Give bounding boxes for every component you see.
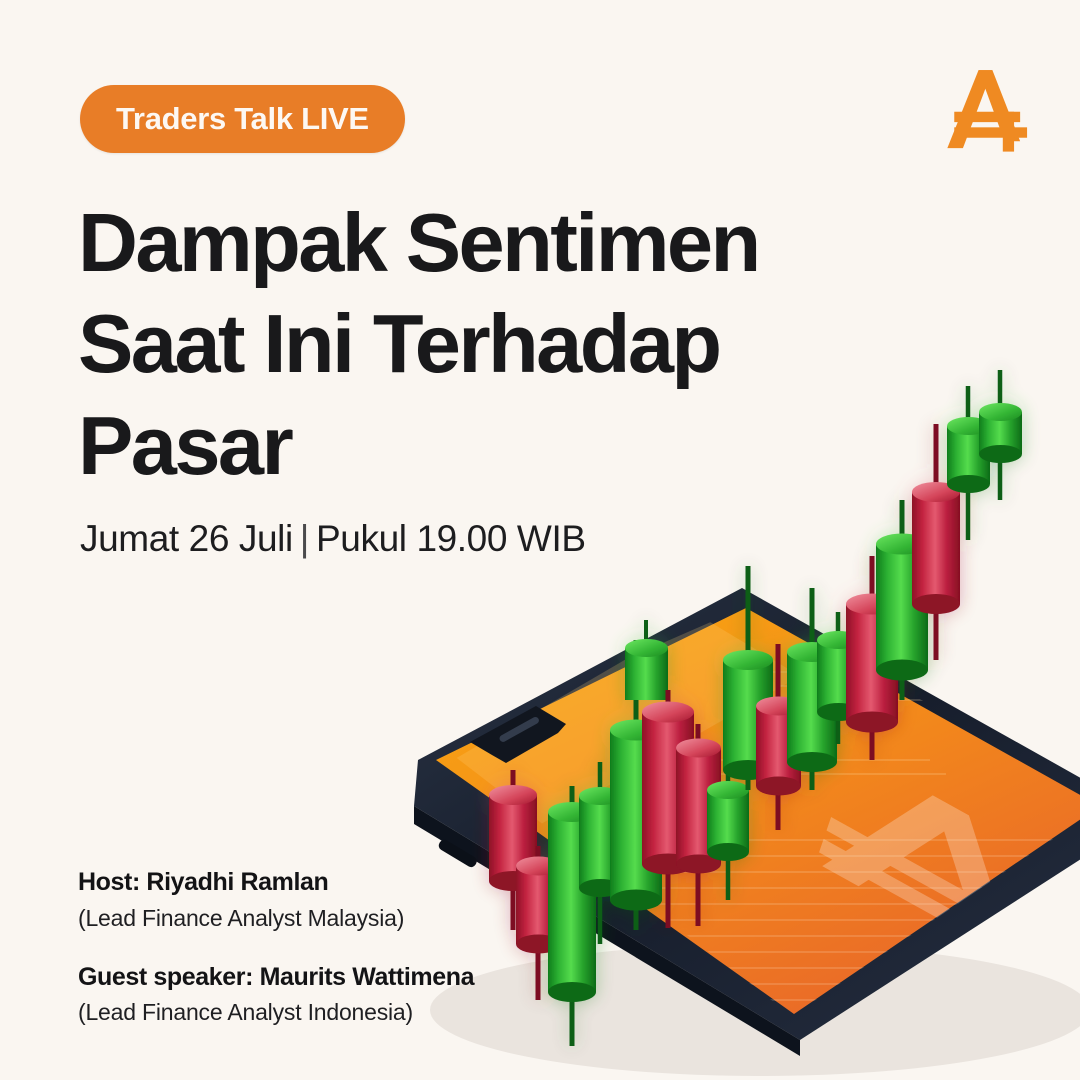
headline-line-3: Pasar (78, 395, 858, 496)
promo-poster: Traders Talk LIVE Dampak Sentimen Saat I… (0, 0, 1080, 1080)
credit-host-role: (Lead Finance Analyst Malaysia) (78, 902, 638, 935)
credit-host-name: Host: Riyadhi Ramlan (78, 866, 638, 899)
credit-guest-name: Guest speaker: Maurits Wattimena (78, 961, 638, 994)
credits-block: Host: Riyadhi Ramlan (Lead Finance Analy… (78, 866, 638, 1056)
page-title: Dampak Sentimen Saat Ini Terhadap Pasar (78, 192, 858, 496)
credit-guest: Guest speaker: Maurits Wattimena (Lead F… (78, 961, 638, 1030)
live-badge[interactable]: Traders Talk LIVE (80, 85, 405, 153)
headline-line-1: Dampak Sentimen (78, 192, 858, 293)
schedule-time: Pukul 19.00 WIB (316, 518, 586, 559)
live-badge-label: Traders Talk LIVE (116, 101, 369, 137)
headline-line-2: Saat Ini Terhadap (78, 293, 858, 394)
schedule-separator: | (293, 518, 316, 559)
brand-a-logo-icon (930, 58, 1034, 162)
credit-host: Host: Riyadhi Ramlan (Lead Finance Analy… (78, 866, 638, 935)
schedule-date: Jumat 26 Juli (80, 518, 293, 559)
credit-guest-role: (Lead Finance Analyst Indonesia) (78, 996, 638, 1029)
schedule-line: Jumat 26 Juli|Pukul 19.00 WIB (80, 518, 586, 560)
